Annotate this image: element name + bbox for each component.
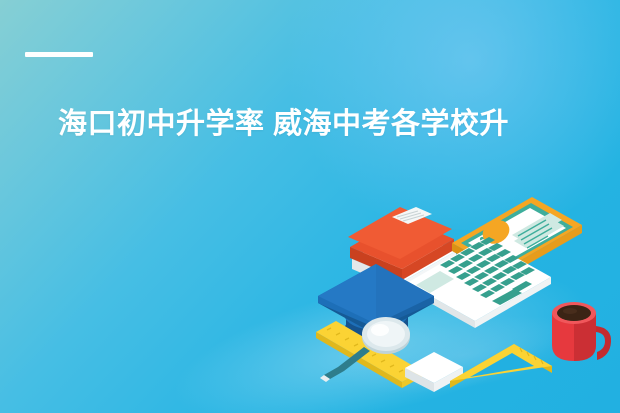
triangle-ruler-icon xyxy=(450,344,552,388)
banner: 海口初中升学率 威海中考各学校升 xyxy=(0,0,620,413)
title-dash-decoration xyxy=(25,52,93,57)
page-title: 海口初中升学率 威海中考各学校升 xyxy=(58,103,536,145)
education-illustration xyxy=(300,185,620,413)
eraser-icon xyxy=(405,352,463,392)
coffee-mug-icon xyxy=(552,302,611,361)
